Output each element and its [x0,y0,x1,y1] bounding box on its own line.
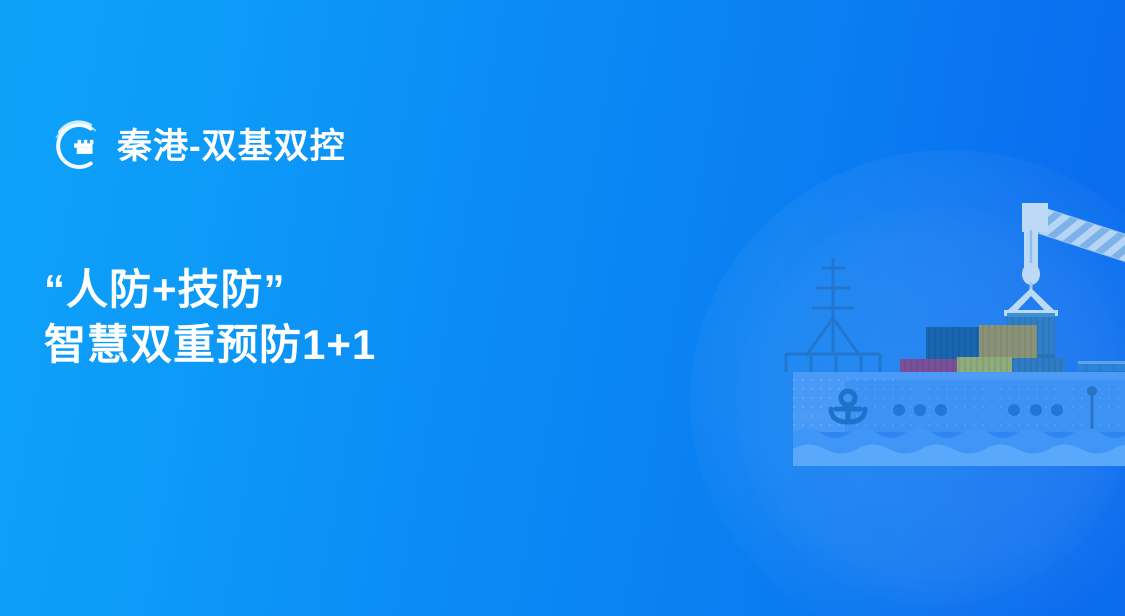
portholes [893,404,1063,416]
gantry-crane-icon [1004,203,1125,316]
container-bottom-left [900,359,957,387]
page-title: “人防+技防” 智慧双重预防1+1 [44,262,376,373]
container-bottom-mid [957,357,1012,387]
brand-lockup: 秦港-双基双控 [47,118,346,174]
sea-waves [793,428,1125,466]
container-top-right [979,325,1037,359]
ship-hull [793,372,1125,465]
mooring-pole [1087,386,1097,452]
container-top-left [926,327,979,359]
stacked-containers [896,325,1072,387]
background-glow-inner [735,205,1125,605]
headline-line-2: 智慧双重预防1+1 [44,317,376,372]
qingang-g-logo-icon [47,118,103,174]
hoisted-container [1007,313,1055,358]
headline-line-1: “人防+技防” [44,262,376,317]
container-bottom-right [1012,358,1065,387]
dock-railing-right [1078,361,1125,372]
brand-name: 秦港-双基双控 [117,129,346,164]
promo-banner: 秦港-双基双控 “人防+技防” 智慧双重预防1+1 [0,0,1125,616]
radio-mast-icon [806,258,860,356]
anchor-icon [831,391,865,422]
deck-railing-left [786,354,880,372]
background-glow [690,150,1125,616]
